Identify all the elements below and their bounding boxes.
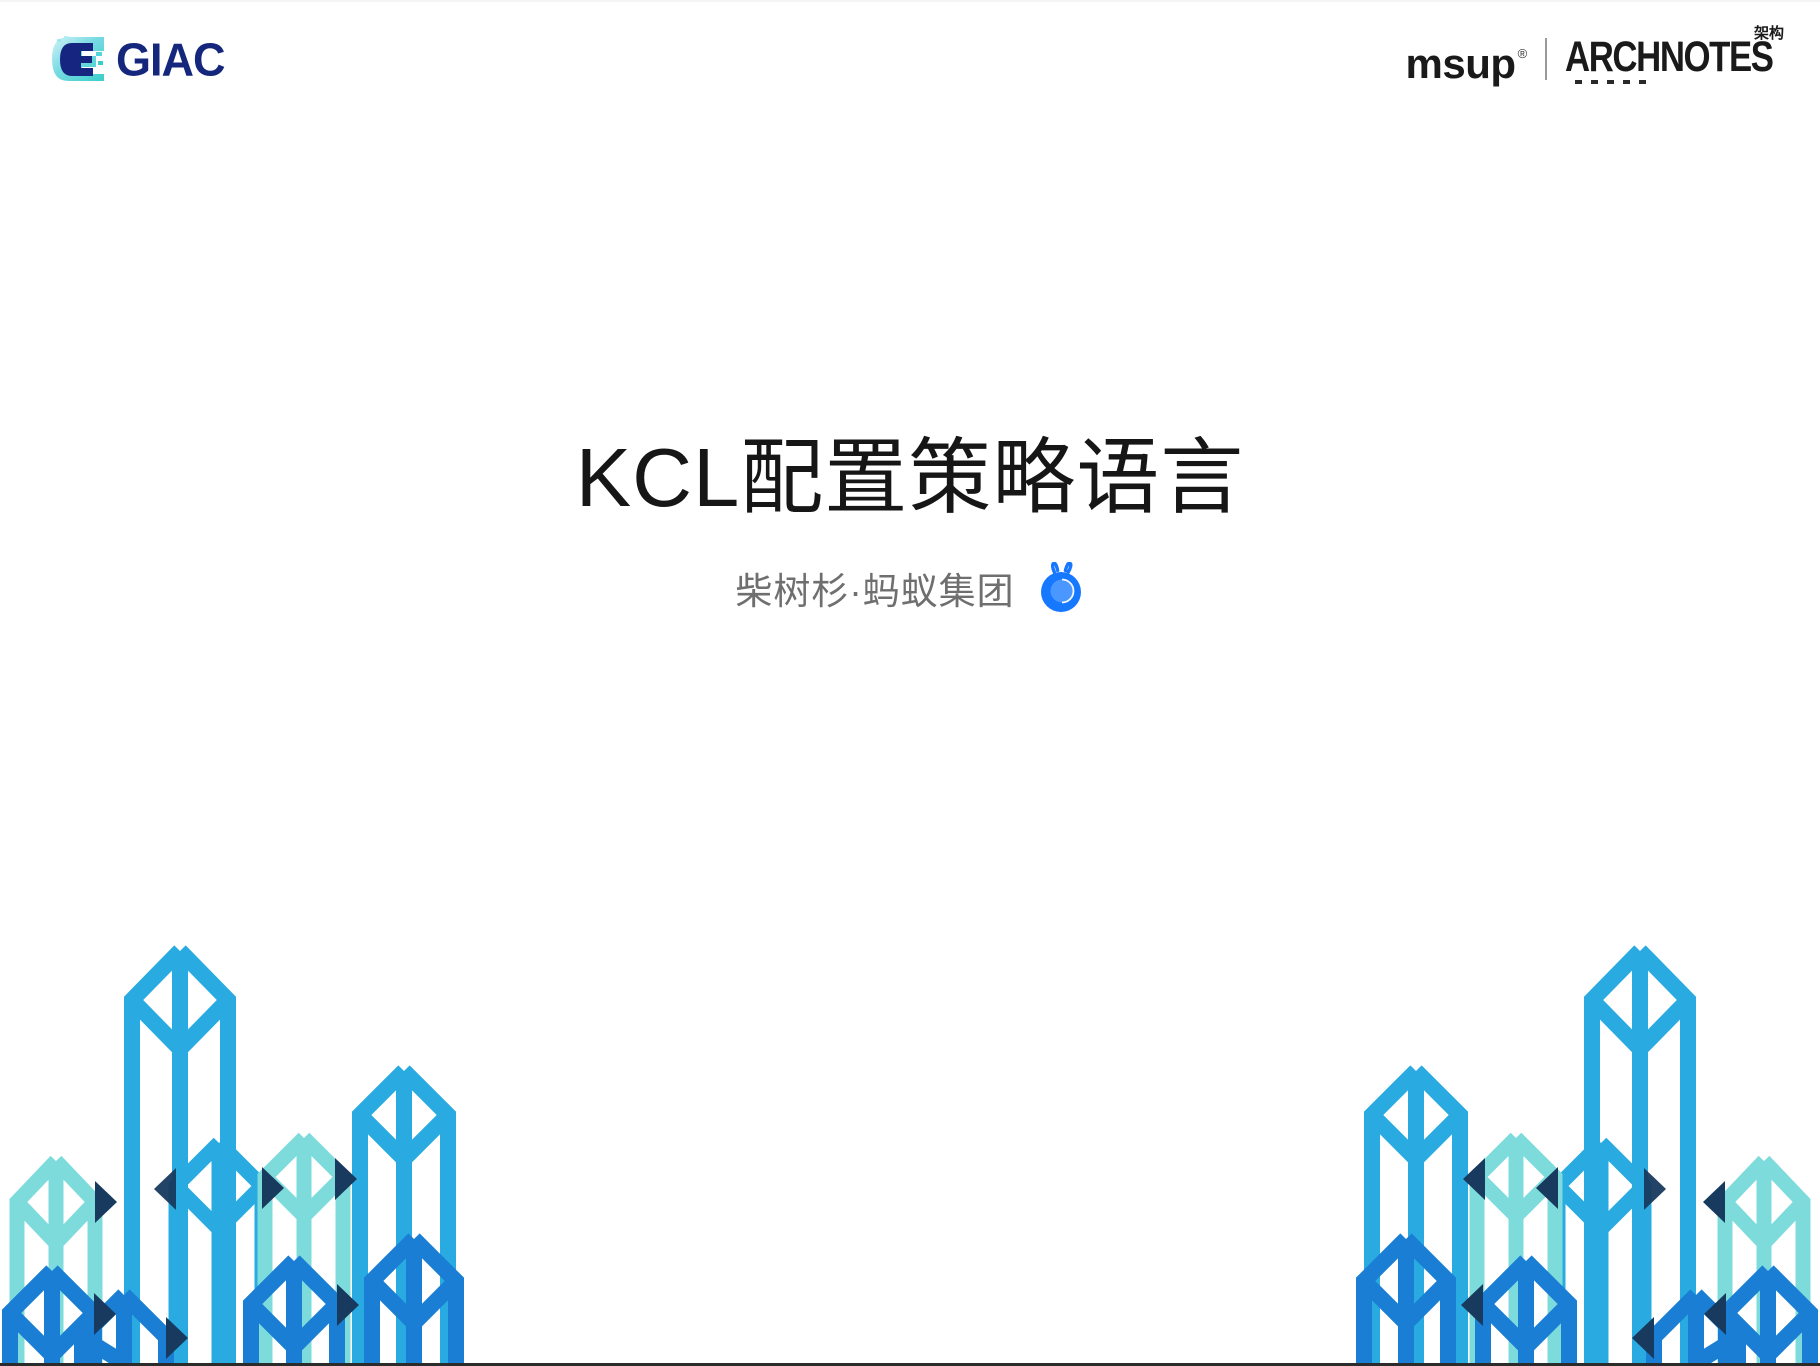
archnotes-logo: 架构 ARCHNOTES bbox=[1565, 41, 1786, 84]
subtitle-row: 柴树杉·蚂蚁集团 bbox=[0, 561, 1820, 615]
giac-logo: GIAC bbox=[48, 34, 225, 84]
msup-logo: msup ® bbox=[1406, 44, 1528, 84]
archnotes-wordmark: ARCHNOTES bbox=[1565, 35, 1773, 78]
giac-cube-logo-icon bbox=[48, 34, 110, 84]
giac-wordmark: GIAC bbox=[116, 36, 225, 83]
logo-divider bbox=[1545, 38, 1547, 80]
archnotes-dot-row bbox=[1575, 80, 1646, 84]
presenter-affiliation: 柴树杉·蚂蚁集团 bbox=[735, 561, 1014, 615]
msup-wordmark: msup bbox=[1406, 44, 1516, 84]
archnotes-dot bbox=[1607, 80, 1614, 84]
ant-group-logo-icon bbox=[1037, 562, 1085, 614]
archnotes-dot bbox=[1639, 80, 1646, 84]
decorative-tower-pattern-right bbox=[1256, 893, 1820, 1363]
archnotes-dot bbox=[1575, 80, 1582, 84]
page-title: KCL配置策略语言 bbox=[0, 430, 1820, 525]
presentation-slide: GIAC msup ® 架构 ARCHNOTES KCL配置策略语言 柴树杉·蚂… bbox=[0, 0, 1820, 1366]
decorative-tower-pattern-left bbox=[0, 893, 564, 1363]
archnotes-dot bbox=[1591, 80, 1598, 84]
msup-trademark-icon: ® bbox=[1518, 46, 1528, 61]
title-block: KCL配置策略语言 柴树杉·蚂蚁集团 bbox=[0, 430, 1820, 615]
archnotes-dot bbox=[1623, 80, 1630, 84]
partner-logos: msup ® 架构 ARCHNOTES bbox=[1406, 38, 1786, 84]
